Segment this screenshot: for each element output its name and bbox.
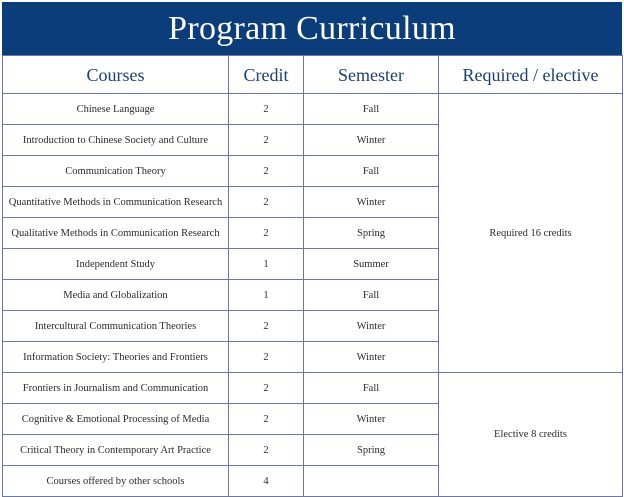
column-header-semester: Semester <box>304 56 439 94</box>
credit-cell: 2 <box>229 94 304 125</box>
curriculum-table: Courses Credit Semester Required / elect… <box>2 55 623 497</box>
credit-cell: 2 <box>229 373 304 404</box>
credit-cell: 1 <box>229 249 304 280</box>
semester-cell: Spring <box>304 218 439 249</box>
credit-cell: 4 <box>229 466 304 497</box>
table-row: Frontiers in Journalism and Communicatio… <box>3 373 623 404</box>
course-name-cell: Courses offered by other schools <box>3 466 229 497</box>
credit-cell: 2 <box>229 435 304 466</box>
course-name-cell: Communication Theory <box>3 156 229 187</box>
course-name-cell: Cognitive & Emotional Processing of Medi… <box>3 404 229 435</box>
semester-cell: Fall <box>304 94 439 125</box>
semester-cell: Fall <box>304 373 439 404</box>
semester-cell <box>304 466 439 497</box>
semester-cell: Fall <box>304 280 439 311</box>
credit-cell: 2 <box>229 125 304 156</box>
title-banner: Program Curriculum <box>2 2 622 55</box>
course-name-cell: Independent Study <box>3 249 229 280</box>
credit-cell: 2 <box>229 218 304 249</box>
category-cell: Required 16 credits <box>439 94 623 373</box>
course-name-cell: Qualitative Methods in Communication Res… <box>3 218 229 249</box>
semester-cell: Winter <box>304 404 439 435</box>
semester-cell: Winter <box>304 187 439 218</box>
credit-cell: 2 <box>229 342 304 373</box>
course-name-cell: Critical Theory in Contemporary Art Prac… <box>3 435 229 466</box>
credit-cell: 2 <box>229 311 304 342</box>
column-header-required-elective: Required / elective <box>439 56 623 94</box>
course-name-cell: Frontiers in Journalism and Communicatio… <box>3 373 229 404</box>
table-header-row: Courses Credit Semester Required / elect… <box>3 56 623 94</box>
credit-cell: 2 <box>229 156 304 187</box>
table-body: Chinese Language2FallRequired 16 credits… <box>3 94 623 497</box>
credit-cell: 2 <box>229 187 304 218</box>
course-name-cell: Introduction to Chinese Society and Cult… <box>3 125 229 156</box>
table-row: Chinese Language2FallRequired 16 credits <box>3 94 623 125</box>
semester-cell: Winter <box>304 342 439 373</box>
semester-cell: Winter <box>304 311 439 342</box>
page-title: Program Curriculum <box>168 12 456 46</box>
course-name-cell: Media and Globalization <box>3 280 229 311</box>
credit-cell: 2 <box>229 404 304 435</box>
semester-cell: Winter <box>304 125 439 156</box>
semester-cell: Spring <box>304 435 439 466</box>
course-name-cell: Quantitative Methods in Communication Re… <box>3 187 229 218</box>
semester-cell: Summer <box>304 249 439 280</box>
course-name-cell: Intercultural Communication Theories <box>3 311 229 342</box>
column-header-courses: Courses <box>3 56 229 94</box>
column-header-credit: Credit <box>229 56 304 94</box>
category-cell: Elective 8 credits <box>439 373 623 497</box>
credit-cell: 1 <box>229 280 304 311</box>
course-name-cell: Information Society: Theories and Fronti… <box>3 342 229 373</box>
course-name-cell: Chinese Language <box>3 94 229 125</box>
semester-cell: Fall <box>304 156 439 187</box>
curriculum-page: Program Curriculum Courses Credit Semest… <box>0 0 624 495</box>
